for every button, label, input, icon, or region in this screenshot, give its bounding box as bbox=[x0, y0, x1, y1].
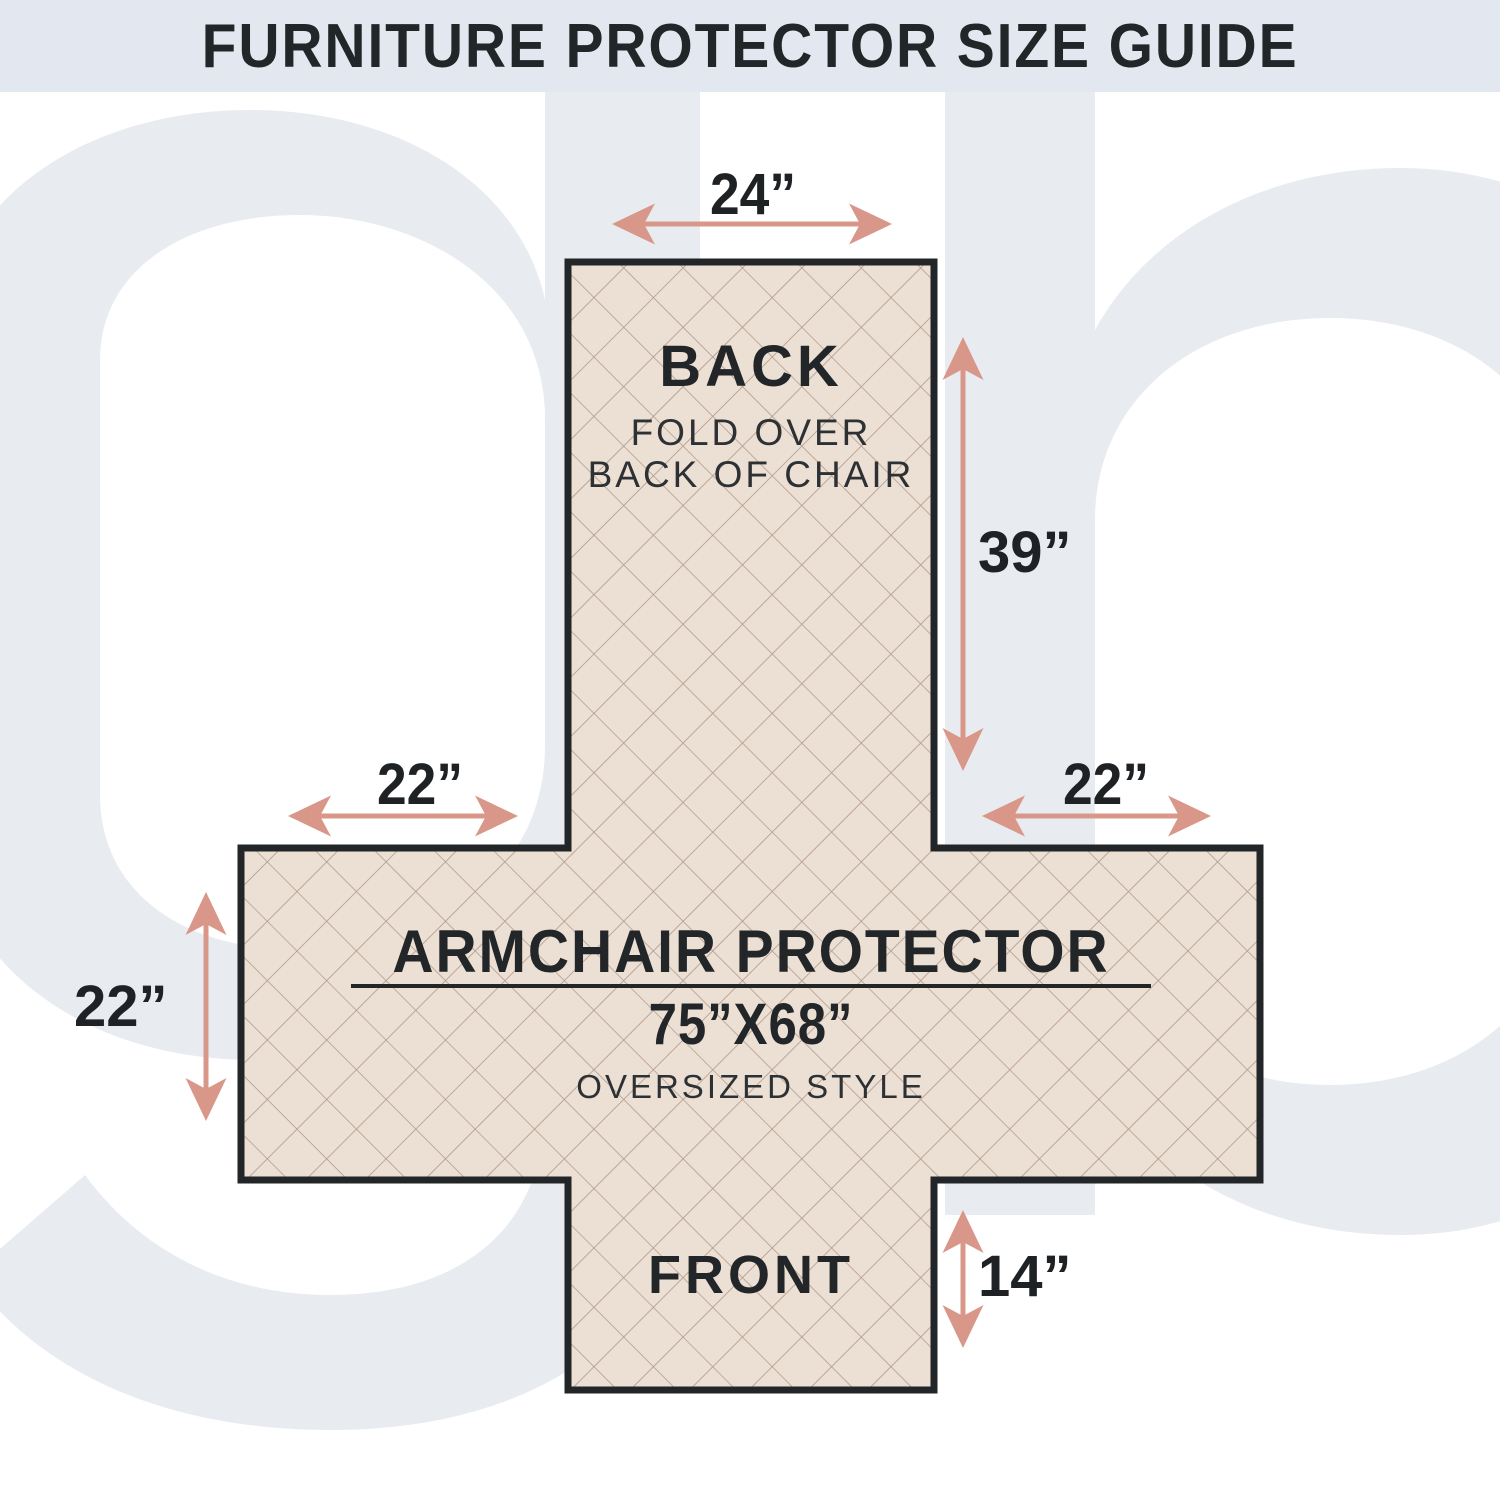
protector-title: ARMCHAIR PROTECTOR bbox=[392, 922, 1109, 982]
front-panel-label: FRONT bbox=[648, 1248, 854, 1302]
dimension-label-left-arm-width: 22” bbox=[377, 756, 463, 814]
header-band: FURNITURE PROTECTOR SIZE GUIDE bbox=[0, 0, 1500, 92]
dimension-label-back-width: 24” bbox=[710, 166, 796, 224]
protector-size: 75”X68” bbox=[649, 996, 854, 1054]
dimension-label-right-arm-width: 22” bbox=[1063, 756, 1149, 814]
protector-style: OVERSIZED STYLE bbox=[576, 1070, 925, 1103]
dimension-label-seat-depth: 22” bbox=[74, 978, 168, 1036]
size-guide-graphic: FURNITURE PROTECTOR SIZE GUIDE bbox=[0, 0, 1500, 1500]
dimension-label-front-height: 14” bbox=[978, 1248, 1072, 1306]
back-panel-line-1: FOLD OVER bbox=[631, 414, 872, 451]
back-panel-heading: BACK bbox=[659, 338, 843, 396]
dimension-label-back-height: 39” bbox=[978, 524, 1072, 582]
page-title: FURNITURE PROTECTOR SIZE GUIDE bbox=[202, 16, 1299, 78]
title-underline bbox=[351, 984, 1151, 988]
back-panel-line-2: BACK OF CHAIR bbox=[588, 456, 915, 493]
